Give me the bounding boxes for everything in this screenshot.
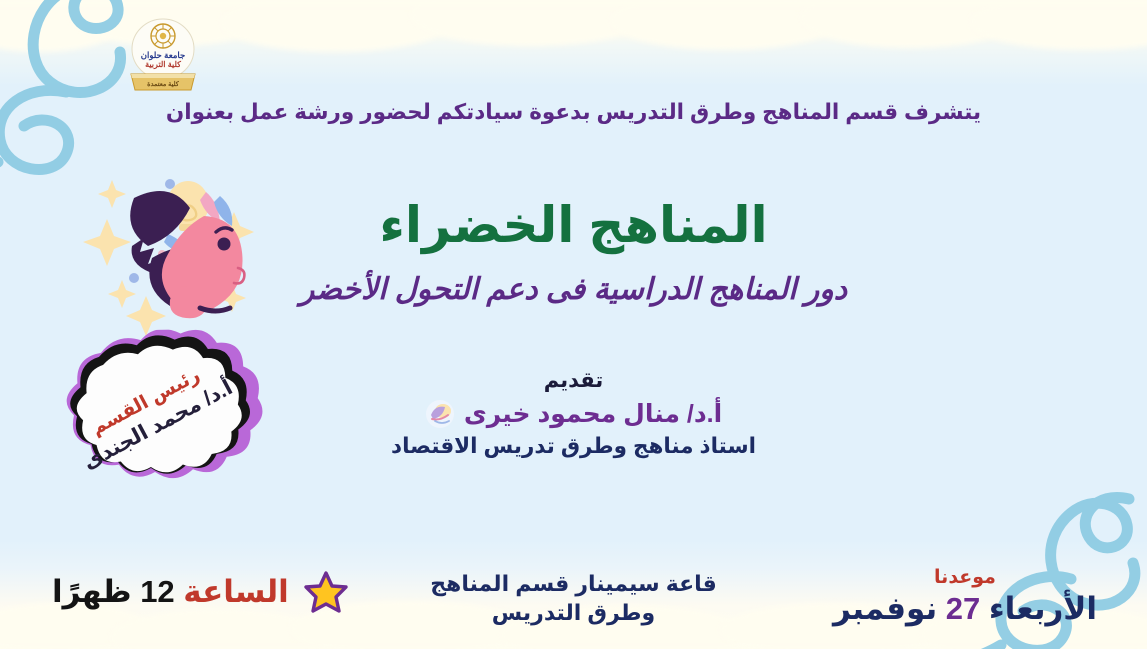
- idea-head-illustration: [78, 162, 266, 338]
- venue-line-1: قاعة سيمينار قسم المناهج: [409, 569, 739, 598]
- cloud-badge-shape: [29, 328, 276, 500]
- event-time-block: الساعة 12 ظهرًا: [52, 569, 382, 615]
- date-month: نوفمبر: [833, 591, 937, 626]
- logo-banner-text: كلية معتمدة: [147, 80, 180, 88]
- time-value-row: الساعة 12 ظهرًا: [52, 574, 289, 610]
- date-day-number: 27: [946, 591, 980, 626]
- presenter-sticker-icon: [425, 399, 455, 429]
- logo-faculty-text: كلية التربية: [145, 60, 181, 70]
- event-poster: جامعة حلوان كلية التربية كلية معتمدة يتش…: [0, 0, 1147, 649]
- venue-line-2: وطرق التدريس: [409, 598, 739, 627]
- department-head-badge: رئيس القسم أ.د/ محمد الجندى: [29, 328, 276, 500]
- star-icon: [303, 569, 349, 615]
- event-venue-block: قاعة سيمينار قسم المناهج وطرق التدريس: [409, 569, 739, 627]
- date-day-name: الأربعاء: [989, 591, 1097, 626]
- presenter-name: أ.د/ منال محمود خيرى: [464, 399, 722, 429]
- date-value: الأربعاء 27 نوفمبر: [805, 591, 1125, 627]
- time-label: الساعة: [183, 574, 288, 609]
- helwan-university-logo-icon: جامعة حلوان كلية التربية كلية معتمدة: [115, 16, 211, 94]
- time-value: 12 ظهرًا: [52, 574, 175, 609]
- date-label: موعدنا: [805, 566, 1125, 589]
- header-invitation-text: يتشرف قسم المناهج وطرق التدريس بدعوة سيا…: [0, 100, 1147, 125]
- event-date-block: موعدنا الأربعاء 27 نوفمبر: [805, 566, 1125, 627]
